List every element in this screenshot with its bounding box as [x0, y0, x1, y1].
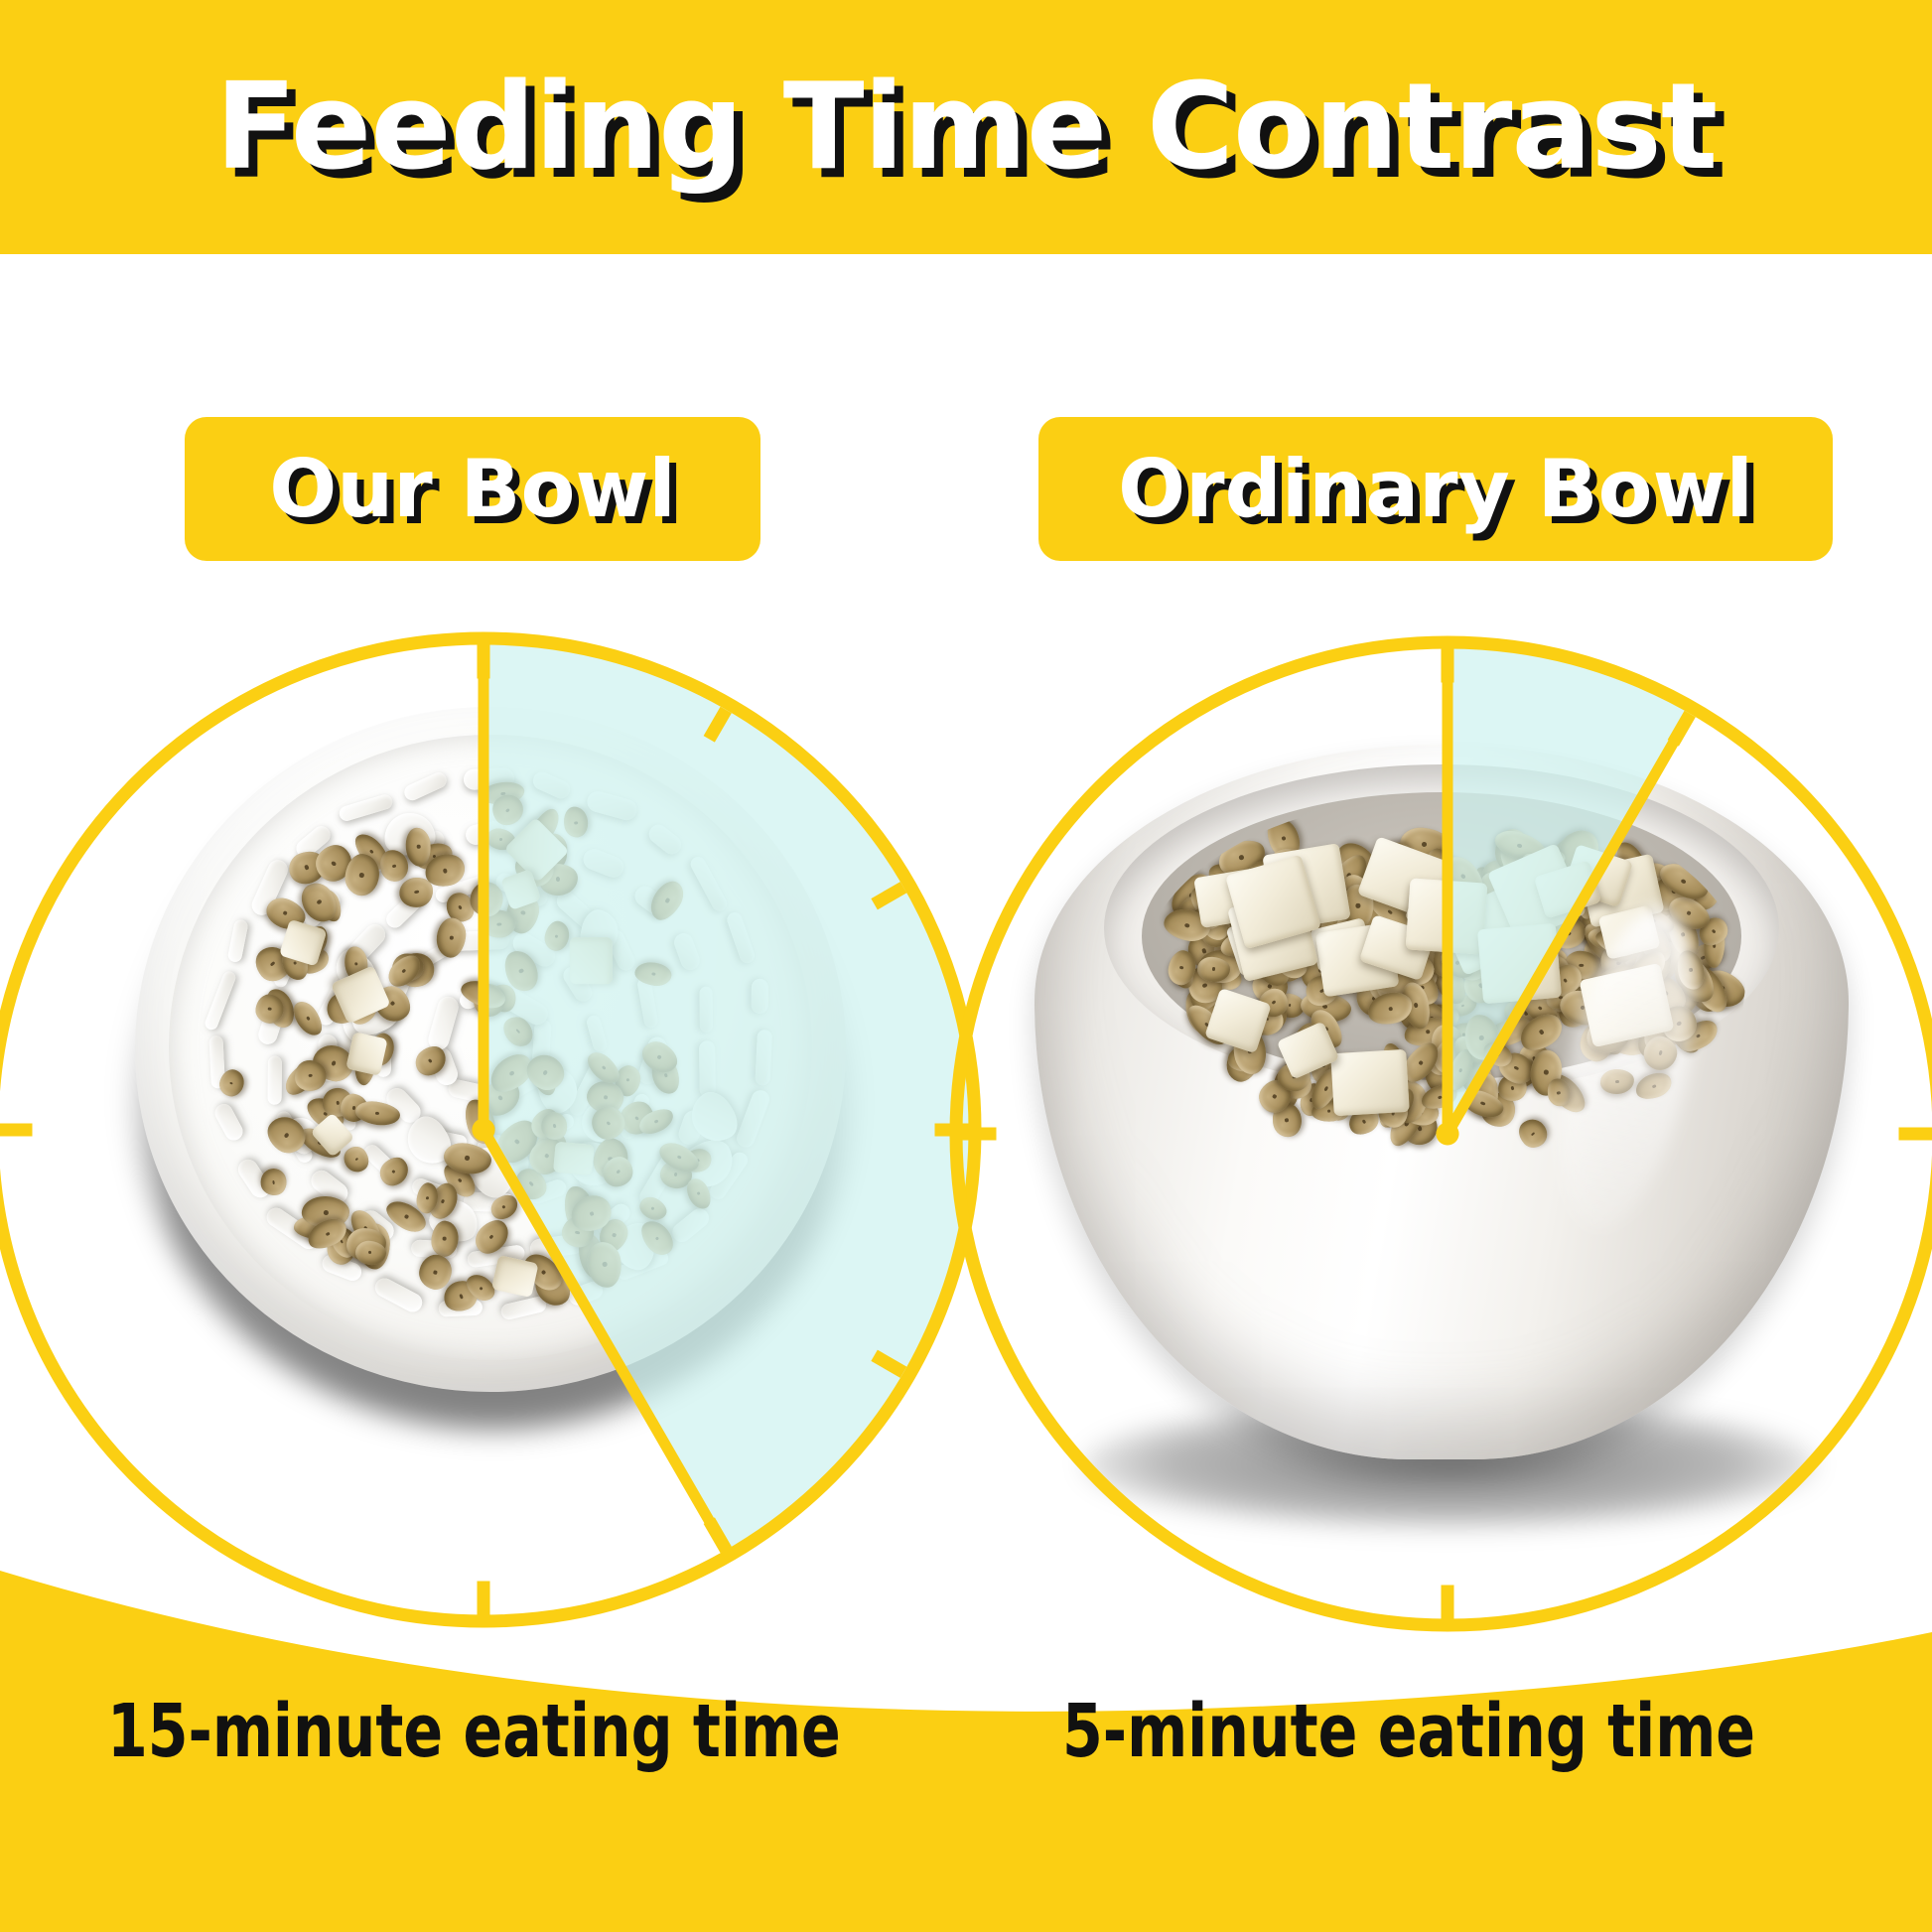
clock-overlay-our-bowl: [20, 616, 953, 1559]
badge-our-bowl-label: Our Bowl: [269, 443, 676, 535]
clock-center-hub: [472, 1118, 494, 1141]
panel-ordinary-bowl: [973, 616, 1906, 1559]
clock-center-hub: [1436, 1122, 1458, 1145]
time-wedge: [483, 638, 975, 1556]
badge-ordinary-bowl-label: Ordinary Bowl: [1118, 443, 1753, 535]
caption-row: 15-minute eating time 5-minute eating ti…: [0, 1515, 1932, 1932]
caption-ordinary-bowl: 5-minute eating time: [1062, 1689, 1755, 1774]
page-title: Feeding Time Contrast: [0, 0, 1932, 254]
caption-our-bowl: 15-minute eating time: [107, 1689, 841, 1774]
badge-our-bowl: Our Bowl: [185, 417, 760, 561]
panel-our-bowl: [20, 616, 953, 1559]
clock-overlay-ordinary-bowl: [973, 616, 1906, 1559]
badge-ordinary-bowl: Ordinary Bowl: [1038, 417, 1833, 561]
